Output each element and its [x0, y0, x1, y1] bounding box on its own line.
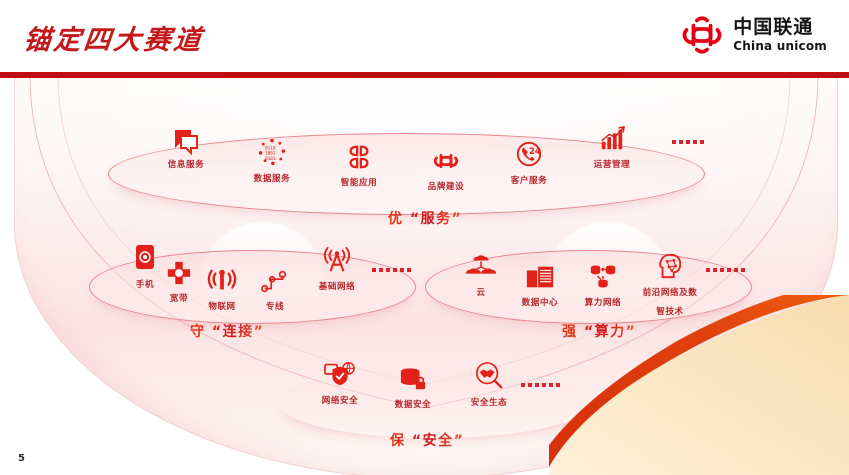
- item-label: 智能应用: [341, 178, 377, 188]
- ellipsis-service: [672, 140, 704, 144]
- data-circle-icon: 011010010101: [235, 136, 309, 166]
- svg-text:1001: 1001: [265, 151, 276, 157]
- ellipsis-connection: [372, 268, 411, 272]
- group-caption-security: 保 “安全”: [390, 430, 464, 450]
- item-label: 物联网: [208, 302, 235, 312]
- item-客户服务[interactable]: 24 客户服务: [492, 138, 566, 187]
- ai-head-icon: [633, 250, 707, 280]
- ellipsis-security: [521, 383, 560, 387]
- item-label: 运营管理: [594, 160, 630, 170]
- item-label: 安全生态: [471, 398, 507, 408]
- svg-text:0110: 0110: [265, 145, 276, 151]
- unicom-knot-icon: [680, 17, 724, 53]
- svg-text:24: 24: [529, 146, 541, 156]
- item-label: 前沿网络及数 智技术: [643, 288, 698, 317]
- item-label: 品牌建设: [428, 182, 464, 192]
- unicom-knot-icon: [409, 144, 483, 174]
- item-label: 客户服务: [511, 176, 547, 186]
- item-label: 算力网络: [585, 298, 621, 308]
- item-label: 数据服务: [254, 174, 290, 184]
- item-label: 数据中心: [522, 298, 558, 308]
- item-label: 基础网络: [319, 282, 355, 292]
- item-label: 云: [476, 288, 485, 298]
- network-tower-icon: [300, 244, 374, 274]
- item-label: 专线: [266, 302, 284, 312]
- group-caption-computing: 强 “算力”: [562, 321, 636, 341]
- logo-text-cn: 中国联通: [733, 18, 827, 37]
- slide-canvas: 锚定四大赛道 中国联通 China unicom: [0, 0, 849, 475]
- item-label: 网络安全: [322, 396, 358, 406]
- speech-bubble-icon: [149, 122, 223, 152]
- item-品牌建设[interactable]: 品牌建设: [409, 144, 483, 193]
- item-网络安全[interactable]: 网络安全: [303, 358, 377, 407]
- item-数据安全[interactable]: 数据安全: [376, 362, 450, 411]
- logo-text-en: China unicom: [733, 40, 827, 52]
- page-title: 锚定四大赛道: [22, 18, 206, 57]
- compute-network-icon: [566, 260, 640, 290]
- database-lock-icon: [376, 362, 450, 392]
- group-caption-service: 优 “服务”: [388, 208, 462, 228]
- svg-text:0101: 0101: [265, 156, 276, 162]
- item-信息服务[interactable]: 信息服务: [149, 122, 223, 171]
- item-算力网络[interactable]: 算力网络: [566, 260, 640, 309]
- item-智能应用[interactable]: 智能应用: [322, 140, 396, 189]
- shield-network-icon: [303, 358, 377, 388]
- item-label: 数据安全: [395, 400, 431, 410]
- group-caption-connection: 守 “连接”: [190, 321, 264, 341]
- item-安全生态[interactable]: 安全生态: [452, 360, 526, 409]
- item-基础网络[interactable]: 基础网络: [300, 244, 374, 293]
- item-运营管理[interactable]: 运营管理: [575, 122, 649, 171]
- four-petal-icon: [322, 140, 396, 170]
- item-前沿网络及数智技术[interactable]: 前沿网络及数 智技术: [633, 250, 707, 318]
- funnel-diagram: 信息服务 011010010101 数据服务: [0, 78, 849, 475]
- item-数据服务[interactable]: 011010010101 数据服务: [235, 136, 309, 185]
- page-number: 5: [18, 453, 25, 464]
- handshake-search-icon: [452, 360, 526, 390]
- ellipsis-computing: [706, 268, 745, 272]
- phone-24h-icon: 24: [492, 138, 566, 168]
- item-label: 信息服务: [168, 160, 204, 170]
- china-unicom-logo: 中国联通 China unicom: [680, 17, 827, 53]
- bar-chart-arrow-icon: [575, 122, 649, 152]
